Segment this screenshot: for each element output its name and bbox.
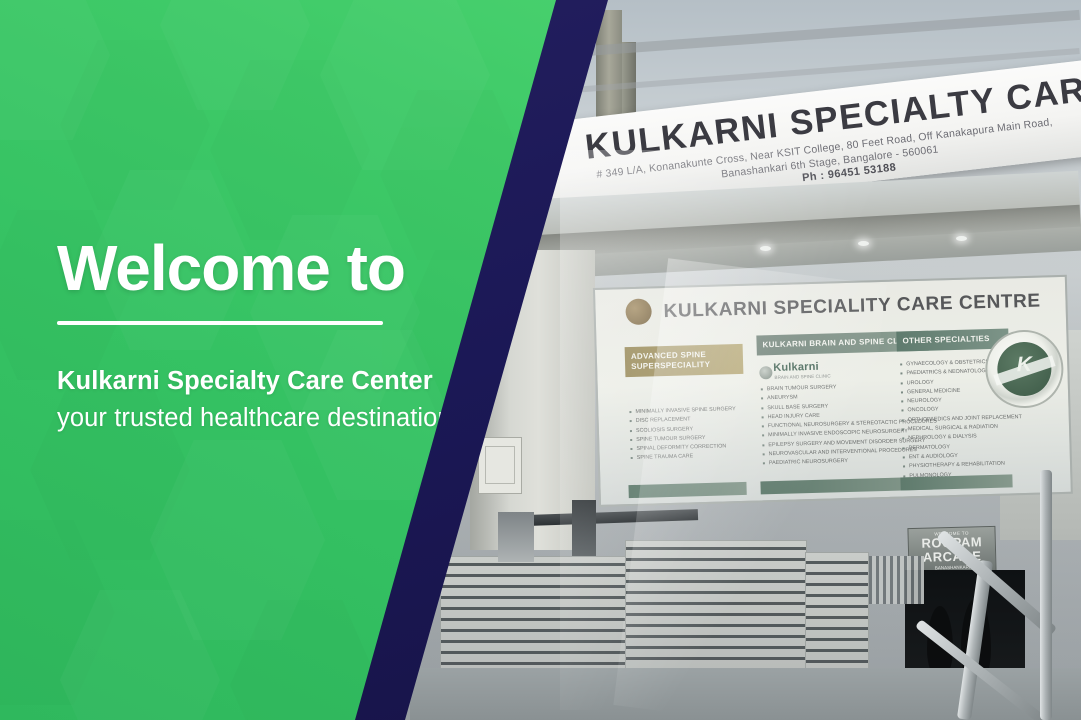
- board-panel-heading: ADVANCED SPINE SUPERSPECIALITY: [625, 344, 744, 377]
- board-panel-footer: [900, 474, 1012, 490]
- downlight-icon: [760, 246, 771, 251]
- clinic-seal-logo-icon: K: [984, 329, 1064, 409]
- board-logo-icon: [625, 298, 652, 325]
- page-title: Welcome to: [57, 236, 477, 300]
- title-divider: [57, 321, 383, 325]
- stair-railing-post: [1040, 470, 1052, 720]
- board-title: KULKARNI SPECIALITY CARE CENTRE: [663, 291, 1041, 324]
- text-content-block: Welcome to Kulkarni Specialty Care Cente…: [57, 236, 477, 438]
- specialties-display-board: KULKARNI SPECIALITY CARE CENTRE ADVANCED…: [593, 275, 1073, 507]
- downlight-icon: [956, 236, 967, 241]
- downlight-icon: [858, 241, 869, 246]
- board-panel-spine: ADVANCED SPINE SUPERSPECIALITY MINIMALLY…: [625, 344, 746, 464]
- gate-bracket: [498, 512, 534, 562]
- subtitle-strong: Kulkarni Specialty Care Center: [57, 367, 433, 395]
- kulkarni-mark-icon: [759, 366, 772, 379]
- board-panel-list: MINIMALLY INVASIVE SPINE SURGERY DISC RE…: [626, 405, 746, 464]
- wall-electrical-box: [478, 437, 522, 494]
- gate-post: [572, 500, 596, 556]
- subtitle: Kulkarni Specialty Care Center your trus…: [57, 363, 477, 438]
- welcome-slide: KULKARNI SPECIALTY CARE CENTRE # 349 L/A…: [0, 0, 1081, 720]
- list-item: SPINE TRAUMA CARE: [637, 451, 746, 463]
- wall-vent-grille: [862, 556, 924, 604]
- seal-letter: K: [1016, 352, 1032, 376]
- subtitle-rest: your trusted healthcare destination.: [57, 404, 459, 432]
- board-panel-footer: [628, 482, 746, 498]
